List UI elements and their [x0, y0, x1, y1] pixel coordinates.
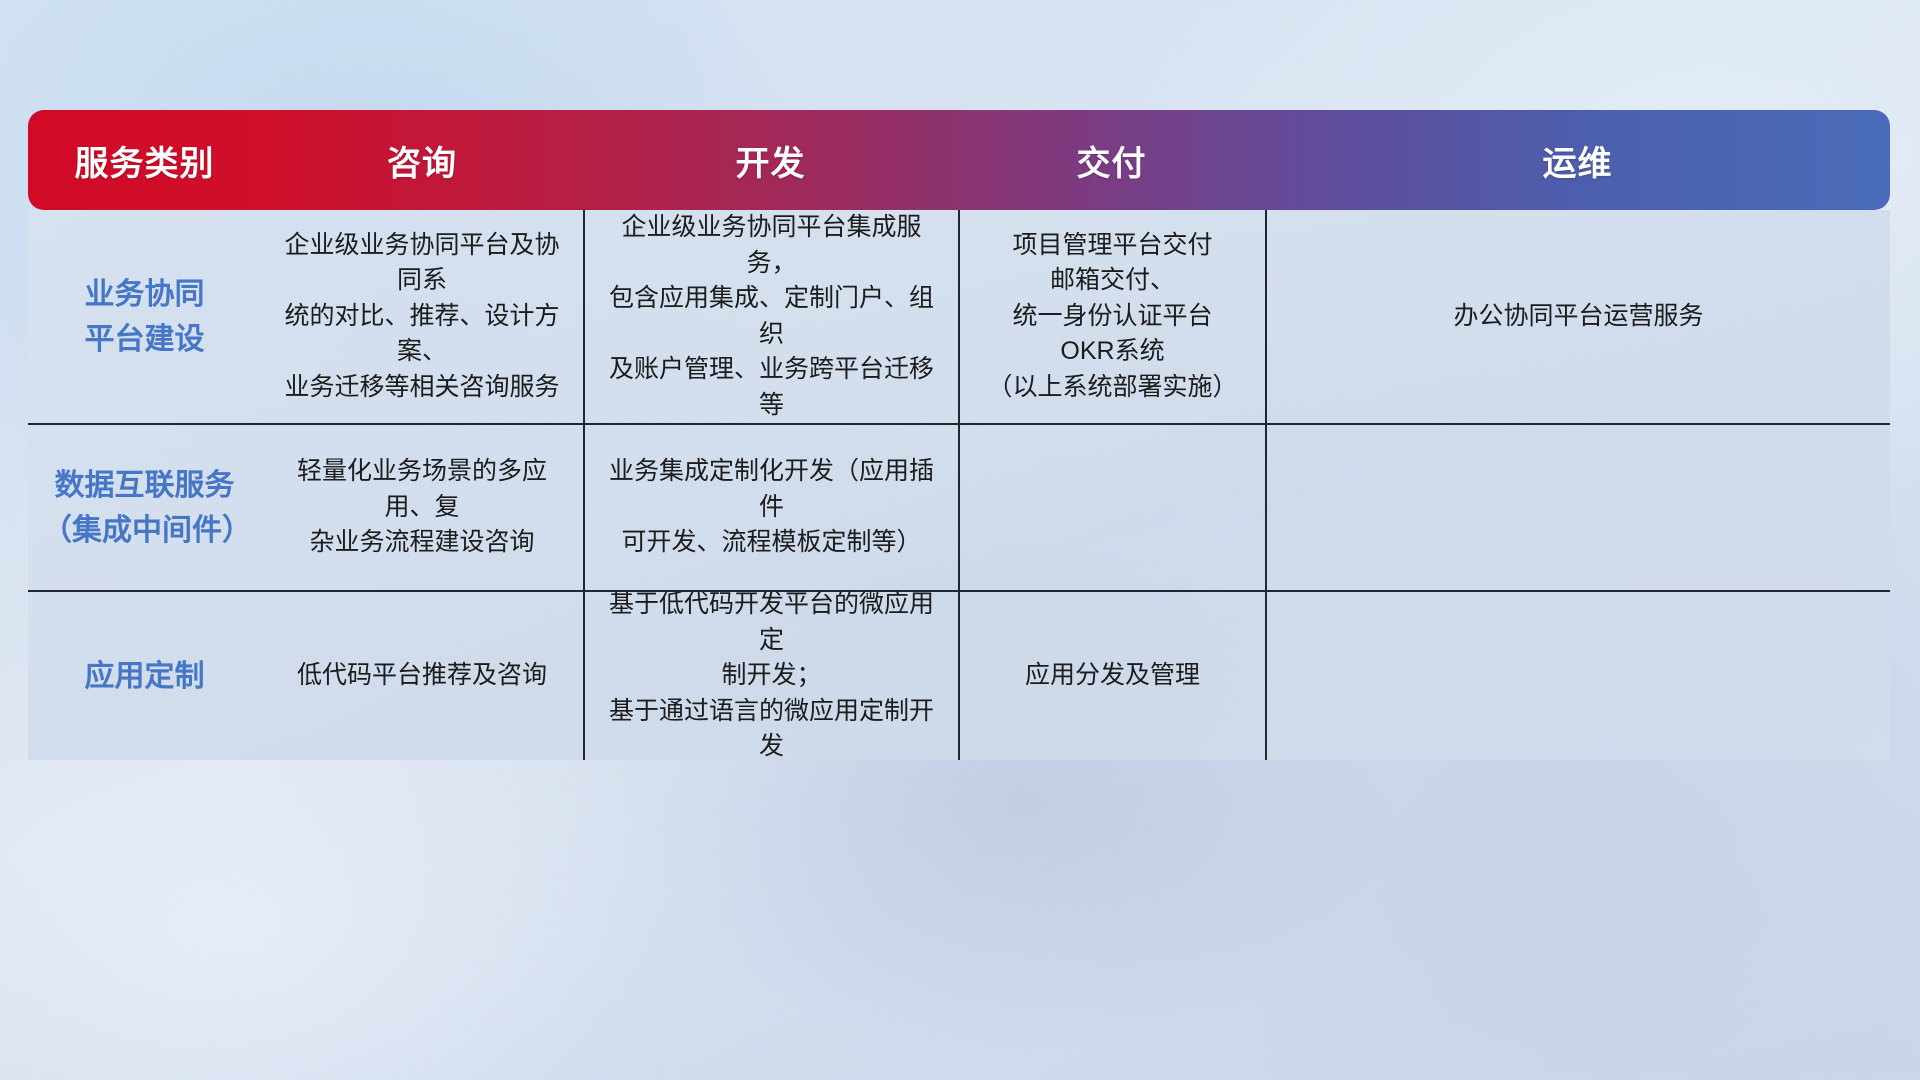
cell-delivery: 应用分发及管理 — [958, 592, 1265, 760]
row-label-text: 应用定制 — [85, 654, 205, 699]
cell-consulting: 企业级业务协同平台及协同系 统的对比、推荐、设计方案、 业务迁移等相关咨询服务 — [261, 210, 583, 423]
table-body: 业务协同 平台建设 企业级业务协同平台及协同系 统的对比、推荐、设计方案、 业务… — [28, 210, 1890, 760]
cell-operations: 办公协同平台运营服务 — [1265, 210, 1890, 423]
cell-consulting: 低代码平台推荐及咨询 — [261, 592, 583, 760]
row-label-cell: 业务协同 平台建设 — [28, 210, 261, 423]
column-header-consulting: 咨询 — [261, 136, 583, 185]
row-label-text: 业务协同 平台建设 — [85, 272, 205, 362]
column-header-category: 服务类别 — [28, 136, 261, 185]
table-row: 应用定制 低代码平台推荐及咨询 基于低代码开发平台的微应用定 制开发； 基于通过… — [28, 590, 1890, 760]
cell-delivery: 项目管理平台交付 邮箱交付、 统一身份认证平台 OKR系统 （以上系统部署实施） — [958, 210, 1265, 423]
cell-development: 业务集成定制化开发（应用插件 可开发、流程模板定制等） — [583, 425, 958, 590]
cell-operations — [1265, 425, 1890, 590]
cell-delivery — [958, 425, 1265, 590]
table-row: 业务协同 平台建设 企业级业务协同平台及协同系 统的对比、推荐、设计方案、 业务… — [28, 210, 1890, 423]
cell-consulting: 轻量化业务场景的多应用、复 杂业务流程建设咨询 — [261, 425, 583, 590]
row-label-cell: 数据互联服务 （集成中间件） — [28, 425, 261, 590]
service-matrix-table: 服务类别 咨询 开发 交付 运维 业务协同 平台建设 企业级业务协同平台及协同系… — [28, 110, 1890, 760]
row-label-cell: 应用定制 — [28, 592, 261, 760]
row-label-text: 数据互联服务 （集成中间件） — [42, 463, 247, 553]
column-header-development: 开发 — [583, 136, 958, 185]
column-header-operations: 运维 — [1265, 136, 1890, 185]
column-header-delivery: 交付 — [958, 136, 1265, 185]
cell-development: 基于低代码开发平台的微应用定 制开发； 基于通过语言的微应用定制开发 — [583, 592, 958, 760]
cell-development: 企业级业务协同平台集成服务， 包含应用集成、定制门户、组织 及账户管理、业务跨平… — [583, 210, 958, 423]
table-row: 数据互联服务 （集成中间件） 轻量化业务场景的多应用、复 杂业务流程建设咨询 业… — [28, 423, 1890, 590]
cell-operations — [1265, 592, 1890, 760]
table-header-bar: 服务类别 咨询 开发 交付 运维 — [28, 110, 1890, 210]
